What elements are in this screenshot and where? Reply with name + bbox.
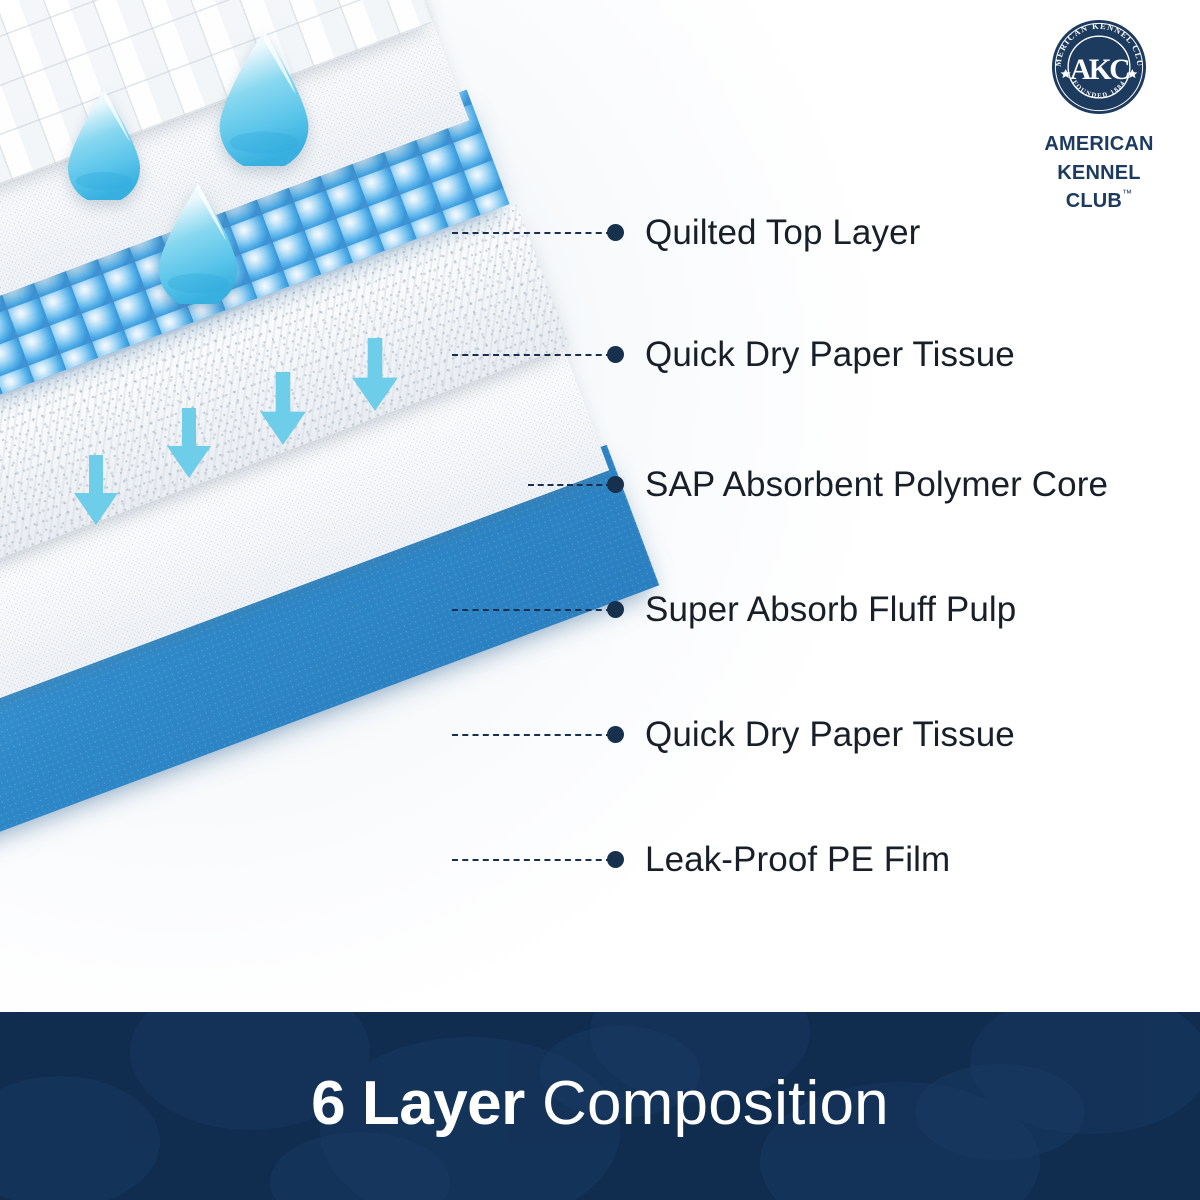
leader-node xyxy=(607,476,624,493)
infographic-canvas: Quilted Top Layer Quick Dry Paper Tissue… xyxy=(0,0,1200,1200)
flow-arrow-1 xyxy=(72,455,120,527)
leader-line xyxy=(528,484,612,486)
leader-line xyxy=(452,354,612,356)
leader-line xyxy=(452,232,612,234)
leader-node xyxy=(607,601,624,618)
water-droplet-2 xyxy=(212,28,316,166)
water-droplet-1 xyxy=(62,88,146,200)
akc-wordmark-line1: American xyxy=(1024,127,1174,156)
banner-title-strong: 6 Layer xyxy=(311,1069,525,1138)
layer-label-fluff-pulp: Super Absorb Fluff Pulp xyxy=(645,590,1016,630)
flow-arrow-2 xyxy=(165,408,213,480)
leader-node xyxy=(607,346,624,363)
layer-label-pe-film: Leak-Proof PE Film xyxy=(645,840,950,880)
leader-line xyxy=(452,609,612,611)
trademark-symbol: ™ xyxy=(1122,189,1132,200)
water-droplet-3 xyxy=(152,182,244,304)
leader-node xyxy=(607,851,624,868)
layer-label-sap-core: SAP Absorbent Polymer Core xyxy=(645,465,1108,505)
leader-node xyxy=(607,224,624,241)
flow-arrow-3 xyxy=(258,372,308,447)
leader-line xyxy=(452,734,612,736)
akc-wordmark-line2: Kennel Club xyxy=(1057,154,1140,214)
flow-arrow-4 xyxy=(350,338,400,413)
leader-node xyxy=(607,726,624,743)
layer-label-tissue-top: Quick Dry Paper Tissue xyxy=(645,335,1015,375)
akc-wordmark: American Kennel Club™ xyxy=(1024,127,1174,213)
layer-label-quilted-top: Quilted Top Layer xyxy=(645,213,920,253)
leader-line xyxy=(452,859,612,861)
bottom-banner: 6 Layer Composition xyxy=(0,1012,1200,1200)
akc-logo: AMERICAN KENNEL CLUB FOUNDED 1884 AKC Am… xyxy=(1024,18,1174,213)
banner-title-light: Composition xyxy=(542,1069,889,1138)
banner-title: 6 Layer Composition xyxy=(311,1073,889,1135)
akc-seal-icon: AMERICAN KENNEL CLUB FOUNDED 1884 AKC xyxy=(1050,18,1148,116)
layer-label-tissue-bottom: Quick Dry Paper Tissue xyxy=(645,715,1015,755)
svg-text:AKC: AKC xyxy=(1070,54,1128,86)
